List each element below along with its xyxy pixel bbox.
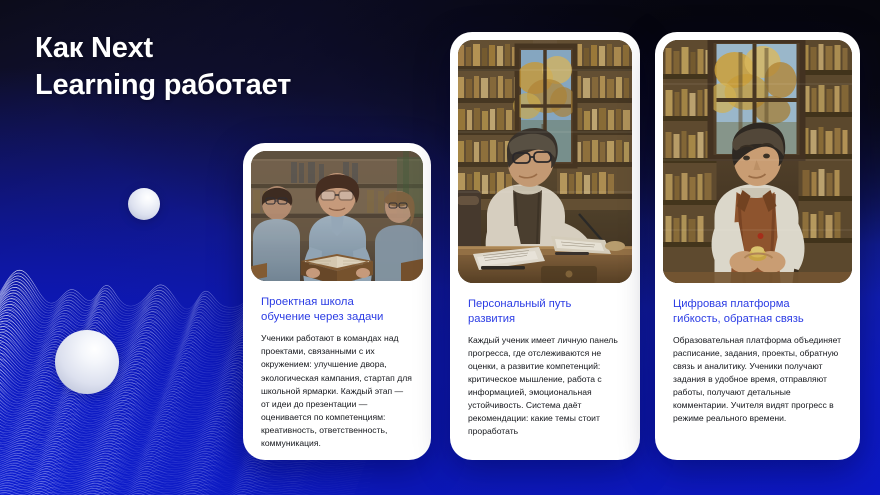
student-writing-at-desk-painting	[458, 40, 632, 283]
students-reading-in-library-photo	[251, 151, 423, 281]
card-body: Цифровая платформа гибкость, обратная св…	[663, 283, 852, 435]
feature-card[interactable]: Проектная школа обучение через задачи Уч…	[243, 143, 431, 460]
card-body: Персональный путь развития Каждый ученик…	[458, 283, 632, 448]
card-heading: Проектная школа обучение через задачи	[261, 295, 413, 325]
feature-card[interactable]: Цифровая платформа гибкость, обратная св…	[655, 32, 860, 460]
slide-canvas: Как Next Learning работает	[0, 0, 880, 495]
card-body: Проектная школа обучение через задачи Уч…	[251, 281, 423, 460]
card-heading: Цифровая платформа гибкость, обратная св…	[673, 297, 842, 327]
card-text: Образовательная платформа объединяет рас…	[673, 334, 842, 425]
card-text: Ученики работают в командах над проектам…	[261, 332, 413, 450]
sphere-left-decor	[55, 330, 119, 394]
card-heading: Персональный путь развития	[468, 297, 622, 327]
sphere-top-decor	[128, 188, 160, 220]
feature-card[interactable]: Персональный путь развития Каждый ученик…	[450, 32, 640, 460]
student-counting-coins-by-window-painting	[663, 40, 852, 283]
card-text: Каждый ученик имеет личную панель прогре…	[468, 334, 622, 439]
page-title: Как Next Learning работает	[35, 30, 291, 104]
